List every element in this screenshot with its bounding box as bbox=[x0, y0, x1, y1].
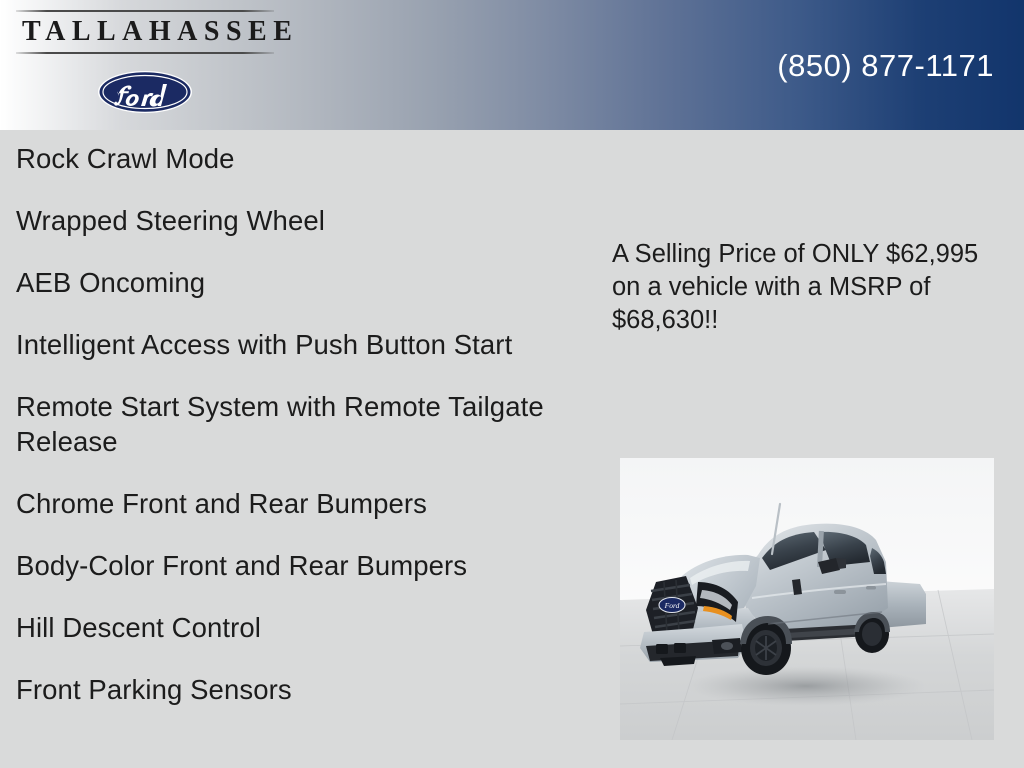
feature-item: AEB Oncoming bbox=[16, 265, 578, 300]
svg-text:Ford: Ford bbox=[664, 601, 680, 610]
vehicle-feature-list: Rock Crawl Mode Wrapped Steering Wheel A… bbox=[16, 141, 578, 707]
vehicle-feature-slide: TALLAHASSEE (850) 877-1171 Rock Crawl Mo… bbox=[0, 0, 1024, 768]
feature-item: Body-Color Front and Rear Bumpers bbox=[16, 548, 578, 583]
feature-item: Chrome Front and Rear Bumpers bbox=[16, 486, 578, 521]
dealer-phone-number[interactable]: (850) 877-1171 bbox=[777, 48, 994, 84]
dealer-name: TALLAHASSEE bbox=[16, 12, 274, 52]
feature-item: Remote Start System with Remote Tailgate… bbox=[16, 389, 578, 459]
feature-item: Wrapped Steering Wheel bbox=[16, 203, 578, 238]
ford-oval-icon bbox=[97, 70, 193, 114]
feature-item: Front Parking Sensors bbox=[16, 672, 578, 707]
vehicle-photo: Ford bbox=[620, 458, 994, 740]
feature-item: Hill Descent Control bbox=[16, 610, 578, 645]
price-callout-text: A Selling Price of ONLY $62,995 on a veh… bbox=[612, 238, 1002, 337]
feature-item: Rock Crawl Mode bbox=[16, 141, 578, 176]
dealer-brandmark: TALLAHASSEE bbox=[16, 10, 274, 54]
feature-item: Intelligent Access with Push Button Star… bbox=[16, 327, 578, 362]
dealer-header-banner: TALLAHASSEE (850) 877-1171 bbox=[0, 0, 1024, 130]
brandmark-bottom-rule bbox=[16, 52, 274, 54]
